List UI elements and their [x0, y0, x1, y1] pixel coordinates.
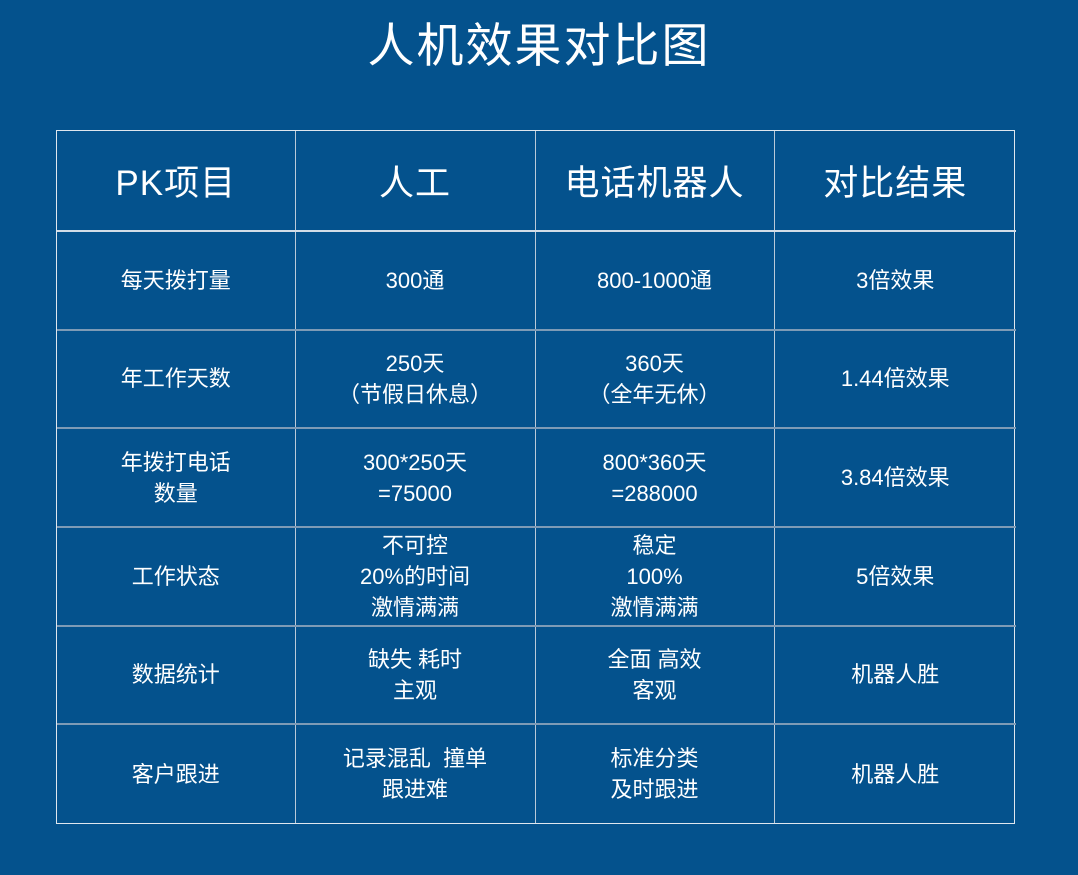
cell-line: 稳定 — [542, 530, 768, 561]
cell-human: 250天（节假日休息） — [295, 330, 535, 429]
cell-line: 3.84倍效果 — [781, 462, 1011, 493]
cell-item: 年拨打电话数量 — [57, 428, 295, 527]
cell-line: 5倍效果 — [781, 561, 1011, 592]
cell-human: 记录混乱 撞单跟进难 — [295, 724, 535, 823]
cell-lines: 缺失 耗时主观 — [302, 644, 529, 706]
cell-line: 主观 — [302, 675, 529, 706]
cell-lines: 3倍效果 — [781, 265, 1011, 296]
cell-human: 不可控20%的时间激情满满 — [295, 527, 535, 626]
cell-lines: 300*250天=75000 — [302, 447, 529, 509]
cell-lines: 300通 — [302, 265, 529, 296]
cell-lines: 稳定100%激情满满 — [542, 530, 768, 623]
cell-lines: 数据统计 — [63, 659, 289, 690]
cell-item: 客户跟进 — [57, 724, 295, 823]
cell-line: 不可控 — [302, 530, 529, 561]
cell-line: 20%的时间 — [302, 561, 529, 592]
comparison-infographic: 人机效果对比图 PK项目 人工 电话机器人 对比结果 每天拨打量300通800-… — [0, 0, 1078, 875]
table-row: 年工作天数250天（节假日休息）360天（全年无休）1.44倍效果 — [57, 330, 1016, 429]
cell-lines: 不可控20%的时间激情满满 — [302, 530, 529, 623]
cell-robot: 标准分类及时跟进 — [535, 724, 774, 823]
cell-line: 全面 高效 — [542, 644, 768, 675]
cell-line: 1.44倍效果 — [781, 363, 1011, 394]
comparison-table-container: PK项目 人工 电话机器人 对比结果 每天拨打量300通800-1000通3倍效… — [56, 130, 1015, 824]
table-row: 年拨打电话数量300*250天=75000800*360天=2880003.84… — [57, 428, 1016, 527]
cell-human: 缺失 耗时主观 — [295, 626, 535, 725]
cell-item: 工作状态 — [57, 527, 295, 626]
cell-lines: 年工作天数 — [63, 363, 289, 394]
cell-lines: 工作状态 — [63, 561, 289, 592]
cell-line: =75000 — [302, 478, 529, 509]
cell-line: 250天 — [302, 348, 529, 379]
cell-line: 100% — [542, 561, 768, 592]
cell-lines: 360天（全年无休） — [542, 348, 768, 410]
cell-lines: 250天（节假日休息） — [302, 348, 529, 410]
cell-human: 300*250天=75000 — [295, 428, 535, 527]
cell-line: 及时跟进 — [542, 774, 768, 805]
comparison-table: PK项目 人工 电话机器人 对比结果 每天拨打量300通800-1000通3倍效… — [57, 131, 1016, 823]
cell-line: 跟进难 — [302, 774, 529, 805]
cell-line: 数据统计 — [63, 659, 289, 690]
cell-line: （全年无休） — [542, 379, 768, 410]
table-row: 工作状态不可控20%的时间激情满满稳定100%激情满满5倍效果 — [57, 527, 1016, 626]
cell-line: 客户跟进 — [63, 759, 289, 790]
cell-lines: 3.84倍效果 — [781, 462, 1011, 493]
table-row: 数据统计缺失 耗时主观全面 高效客观机器人胜 — [57, 626, 1016, 725]
cell-robot: 800*360天=288000 — [535, 428, 774, 527]
cell-line: 年工作天数 — [63, 363, 289, 394]
cell-lines: 1.44倍效果 — [781, 363, 1011, 394]
cell-lines: 全面 高效客观 — [542, 644, 768, 706]
cell-result: 3倍效果 — [774, 231, 1016, 330]
cell-line: 标准分类 — [542, 743, 768, 774]
cell-line: 工作状态 — [63, 561, 289, 592]
column-header-item: PK项目 — [57, 131, 295, 231]
cell-line: 客观 — [542, 675, 768, 706]
cell-robot: 360天（全年无休） — [535, 330, 774, 429]
table-row: 客户跟进记录混乱 撞单跟进难标准分类及时跟进机器人胜 — [57, 724, 1016, 823]
cell-line: 数量 — [63, 478, 289, 509]
table-header-row: PK项目 人工 电话机器人 对比结果 — [57, 131, 1016, 231]
cell-line: 300通 — [302, 265, 529, 296]
cell-lines: 标准分类及时跟进 — [542, 743, 768, 805]
cell-result: 3.84倍效果 — [774, 428, 1016, 527]
cell-line: 800*360天 — [542, 447, 768, 478]
cell-line: 800-1000通 — [542, 265, 768, 296]
column-header-human: 人工 — [295, 131, 535, 231]
cell-lines: 机器人胜 — [781, 659, 1011, 690]
cell-lines: 年拨打电话数量 — [63, 447, 289, 509]
cell-line: 激情满满 — [302, 592, 529, 623]
cell-human: 300通 — [295, 231, 535, 330]
table-header: PK项目 人工 电话机器人 对比结果 — [57, 131, 1016, 231]
cell-lines: 每天拨打量 — [63, 265, 289, 296]
cell-item: 数据统计 — [57, 626, 295, 725]
cell-item: 年工作天数 — [57, 330, 295, 429]
cell-line: 每天拨打量 — [63, 265, 289, 296]
cell-line: 机器人胜 — [781, 659, 1011, 690]
cell-result: 1.44倍效果 — [774, 330, 1016, 429]
cell-lines: 记录混乱 撞单跟进难 — [302, 743, 529, 805]
cell-lines: 客户跟进 — [63, 759, 289, 790]
table-body: 每天拨打量300通800-1000通3倍效果年工作天数250天（节假日休息）36… — [57, 231, 1016, 823]
cell-line: 缺失 耗时 — [302, 644, 529, 675]
column-header-robot: 电话机器人 — [535, 131, 774, 231]
cell-line: 300*250天 — [302, 447, 529, 478]
cell-lines: 800*360天=288000 — [542, 447, 768, 509]
cell-line: 机器人胜 — [781, 759, 1011, 790]
cell-line: =288000 — [542, 478, 768, 509]
cell-result: 机器人胜 — [774, 724, 1016, 823]
cell-line: 记录混乱 撞单 — [302, 743, 529, 774]
cell-lines: 机器人胜 — [781, 759, 1011, 790]
cell-lines: 800-1000通 — [542, 265, 768, 296]
cell-lines: 5倍效果 — [781, 561, 1011, 592]
column-header-result: 对比结果 — [774, 131, 1016, 231]
cell-line: 年拨打电话 — [63, 447, 289, 478]
page-title: 人机效果对比图 — [0, 14, 1078, 78]
cell-result: 机器人胜 — [774, 626, 1016, 725]
cell-robot: 800-1000通 — [535, 231, 774, 330]
cell-robot: 全面 高效客观 — [535, 626, 774, 725]
cell-result: 5倍效果 — [774, 527, 1016, 626]
table-row: 每天拨打量300通800-1000通3倍效果 — [57, 231, 1016, 330]
cell-line: 360天 — [542, 348, 768, 379]
cell-line: 3倍效果 — [781, 265, 1011, 296]
cell-robot: 稳定100%激情满满 — [535, 527, 774, 626]
cell-line: （节假日休息） — [302, 379, 529, 410]
cell-line: 激情满满 — [542, 592, 768, 623]
cell-item: 每天拨打量 — [57, 231, 295, 330]
